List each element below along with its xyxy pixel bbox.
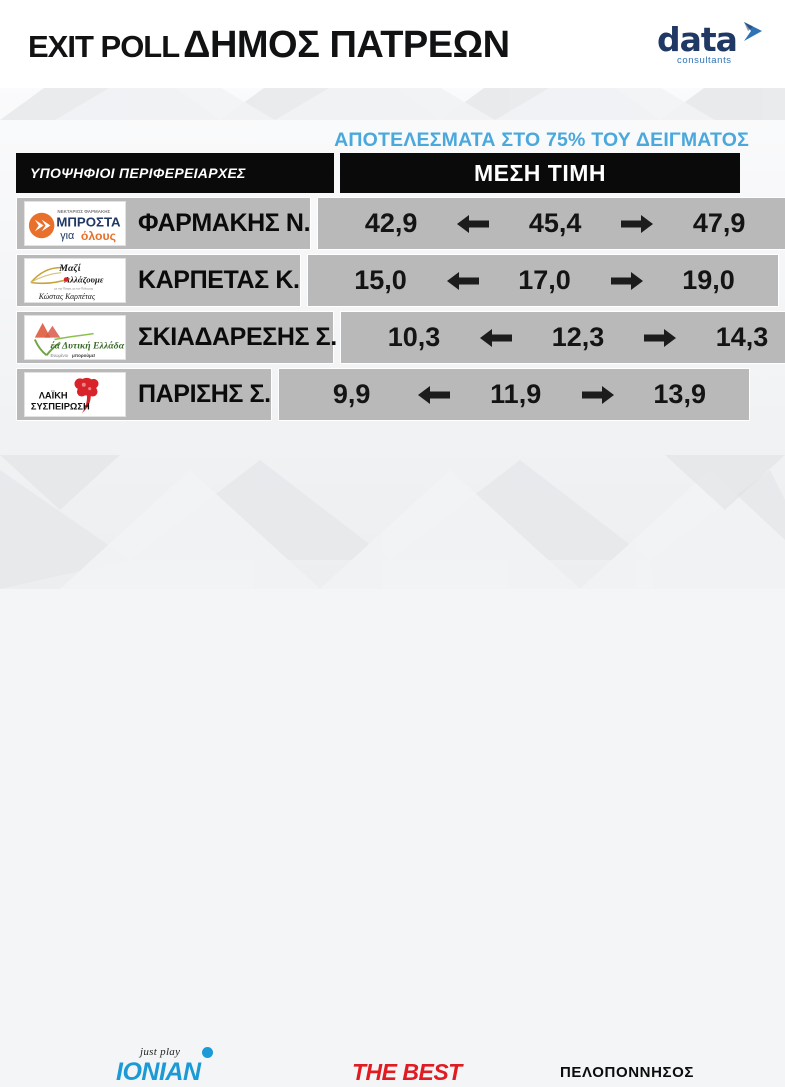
value-cell: 9,9 11,9 13,9 <box>278 368 750 421</box>
party-logo-nea-dytiki-ellada: έα Δυτική Ελλάδα Ενωμένοι μπορούμε! <box>24 315 126 360</box>
value-mid: 12,3 <box>523 322 633 353</box>
table-row: Μαζί Αλλάζουμε με την Πάτρα, με την Πόλη… <box>16 254 740 307</box>
value-cell: 15,0 17,0 19,0 <box>307 254 779 307</box>
value-mid: 11,9 <box>461 379 571 410</box>
peloponnisos-logo: ΠΕΛΟΠΟΝΝΗΣΟΣ <box>560 1064 694 1081</box>
brand-tagline: consultants <box>677 55 732 66</box>
candidate-cell: ΛΑΪΚΗ ΣΥΣΠΕΙΡΩΣΗ ΠΑΡΙΣΗΣ Σ. <box>16 368 272 421</box>
svg-text:Μαζί: Μαζί <box>58 263 81 274</box>
candidate-name: ΦΑΡΜΑΚΗΣ Ν. <box>138 209 310 238</box>
svg-text:ΛΑΪΚΗ: ΛΑΪΚΗ <box>39 390 68 400</box>
arrow-right-icon <box>600 270 654 292</box>
arrow-left-icon <box>407 384 461 406</box>
svg-text:ΜΠΡΟΣΤΑ: ΜΠΡΟΣΤΑ <box>56 215 121 230</box>
arrow-left-icon <box>446 213 500 235</box>
svg-text:Κώστας Καρπέτας: Κώστας Καρπέτας <box>38 292 96 301</box>
ionian-name: IONIAN <box>116 1058 201 1087</box>
header-cell-value: ΜΕΣΗ ΤΙΜΗ <box>340 153 740 193</box>
footer-logos: just play IONIAN THE BEST ΠΕΛΟΠΟΝΝΗΣΟΣ <box>0 520 785 580</box>
arrow-left-icon <box>469 327 523 349</box>
arrow-left-icon <box>436 270 490 292</box>
value-high: 19,0 <box>654 265 764 296</box>
candidate-cell: Μαζί Αλλάζουμε με την Πάτρα, με την Πόλη… <box>16 254 301 307</box>
arrow-right-icon <box>742 20 764 44</box>
play-dot-icon <box>202 1047 213 1058</box>
svg-text:όλους: όλους <box>81 229 116 243</box>
arrow-right-icon <box>633 327 687 349</box>
svg-text:μπορούμε!: μπορούμε! <box>72 353 96 358</box>
brand-name: data <box>657 20 737 59</box>
ionian-tagline: just play <box>140 1046 180 1058</box>
candidate-cell: έα Δυτική Ελλάδα Ενωμένοι μπορούμε! ΣΚΙΑ… <box>16 311 334 364</box>
table-row: ΛΑΪΚΗ ΣΥΣΠΕΙΡΩΣΗ ΠΑΡΙΣΗΣ Σ. 9,9 11,9 <box>16 368 740 421</box>
results-subtitle: ΑΠΟΤΕΛΕΣΜΑΤΑ ΣΤΟ 75% ΤΟΥ ΔΕΙΓΜΑΤΟΣ <box>0 129 749 152</box>
svg-text:για: για <box>60 230 74 242</box>
party-logo-laiki-syspeirosi: ΛΑΪΚΗ ΣΥΣΠΕΙΡΩΣΗ <box>24 372 126 417</box>
party-logo-mprosta-gia-olous: ΝΕΚΤΑΡΙΟΣ ΦΑΡΜΑΚΗΣ ΜΠΡΟΣΤΑ για όλους <box>24 201 126 246</box>
candidate-name: ΣΚΙΑΔΑΡΕΣΗΣ Σ. <box>138 323 337 352</box>
svg-text:ΝΕΚΤΑΡΙΟΣ ΦΑΡΜΑΚΗΣ: ΝΕΚΤΑΡΙΟΣ ΦΑΡΜΑΚΗΣ <box>57 209 110 214</box>
title-municipality: ΔΗΜΟΣ ΠΑΤΡΕΩΝ <box>183 24 509 66</box>
value-high: 14,3 <box>687 322 785 353</box>
data-consultants-logo: data consultants <box>657 24 767 70</box>
value-low: 15,0 <box>326 265 436 296</box>
svg-text:με την Πάτρα, με την Πόλη μας: με την Πάτρα, με την Πόλη μας <box>54 286 93 290</box>
value-high: 47,9 <box>664 208 774 239</box>
svg-text:ΣΥΣΠΕΙΡΩΣΗ: ΣΥΣΠΕΙΡΩΣΗ <box>31 401 90 411</box>
svg-text:έα Δυτική Ελλάδα: έα Δυτική Ελλάδα <box>50 340 124 351</box>
candidate-name: ΠΑΡΙΣΗΣ Σ. <box>138 380 271 409</box>
svg-text:Ενωμένοι: Ενωμένοι <box>50 353 68 358</box>
table-header-row: ΥΠΟΨΗΦΙΟΙ ΠΕΡΙΦΕΡΕΙΑΡΧΕΣ ΜΕΣΗ ΤΙΜΗ <box>16 153 740 193</box>
value-high: 13,9 <box>625 379 735 410</box>
ionian-logo: just play IONIAN <box>116 1046 234 1084</box>
page-title: EXIT POLL ΔΗΜΟΣ ΠΑΤΡΕΩΝ <box>28 24 510 67</box>
svg-text:Αλλάζουμε: Αλλάζουμε <box>63 275 104 285</box>
value-mid: 17,0 <box>490 265 600 296</box>
value-cell: 10,3 12,3 14,3 <box>340 311 785 364</box>
arrow-right-icon <box>571 384 625 406</box>
candidate-cell: ΝΕΚΤΑΡΙΟΣ ΦΑΡΜΑΚΗΣ ΜΠΡΟΣΤΑ για όλους ΦΑΡ… <box>16 197 311 250</box>
value-cell: 42,9 45,4 47,9 <box>317 197 785 250</box>
arrow-right-icon <box>610 213 664 235</box>
candidate-name: ΚΑΡΠΕΤΑΣ Κ. <box>138 266 300 295</box>
party-logo-mazi-allazoume: Μαζί Αλλάζουμε με την Πάτρα, με την Πόλη… <box>24 258 126 303</box>
value-low: 10,3 <box>359 322 469 353</box>
value-low: 9,9 <box>297 379 407 410</box>
table-row: ΝΕΚΤΑΡΙΟΣ ΦΑΡΜΑΚΗΣ ΜΠΡΟΣΤΑ για όλους ΦΑΡ… <box>16 197 740 250</box>
results-table: ΥΠΟΨΗΦΙΟΙ ΠΕΡΙΦΕΡΕΙΑΡΧΕΣ ΜΕΣΗ ΤΙΜΗ ΝΕΚΤΑ… <box>16 153 740 425</box>
value-low: 42,9 <box>336 208 446 239</box>
table-row: έα Δυτική Ελλάδα Ενωμένοι μπορούμε! ΣΚΙΑ… <box>16 311 740 364</box>
thebest-logo: THE BEST <box>352 1059 462 1086</box>
title-exit-poll: EXIT POLL <box>28 29 179 64</box>
header-cell-candidates: ΥΠΟΨΗΦΙΟΙ ΠΕΡΙΦΕΡΕΙΑΡΧΕΣ <box>16 153 334 193</box>
value-mid: 45,4 <box>500 208 610 239</box>
